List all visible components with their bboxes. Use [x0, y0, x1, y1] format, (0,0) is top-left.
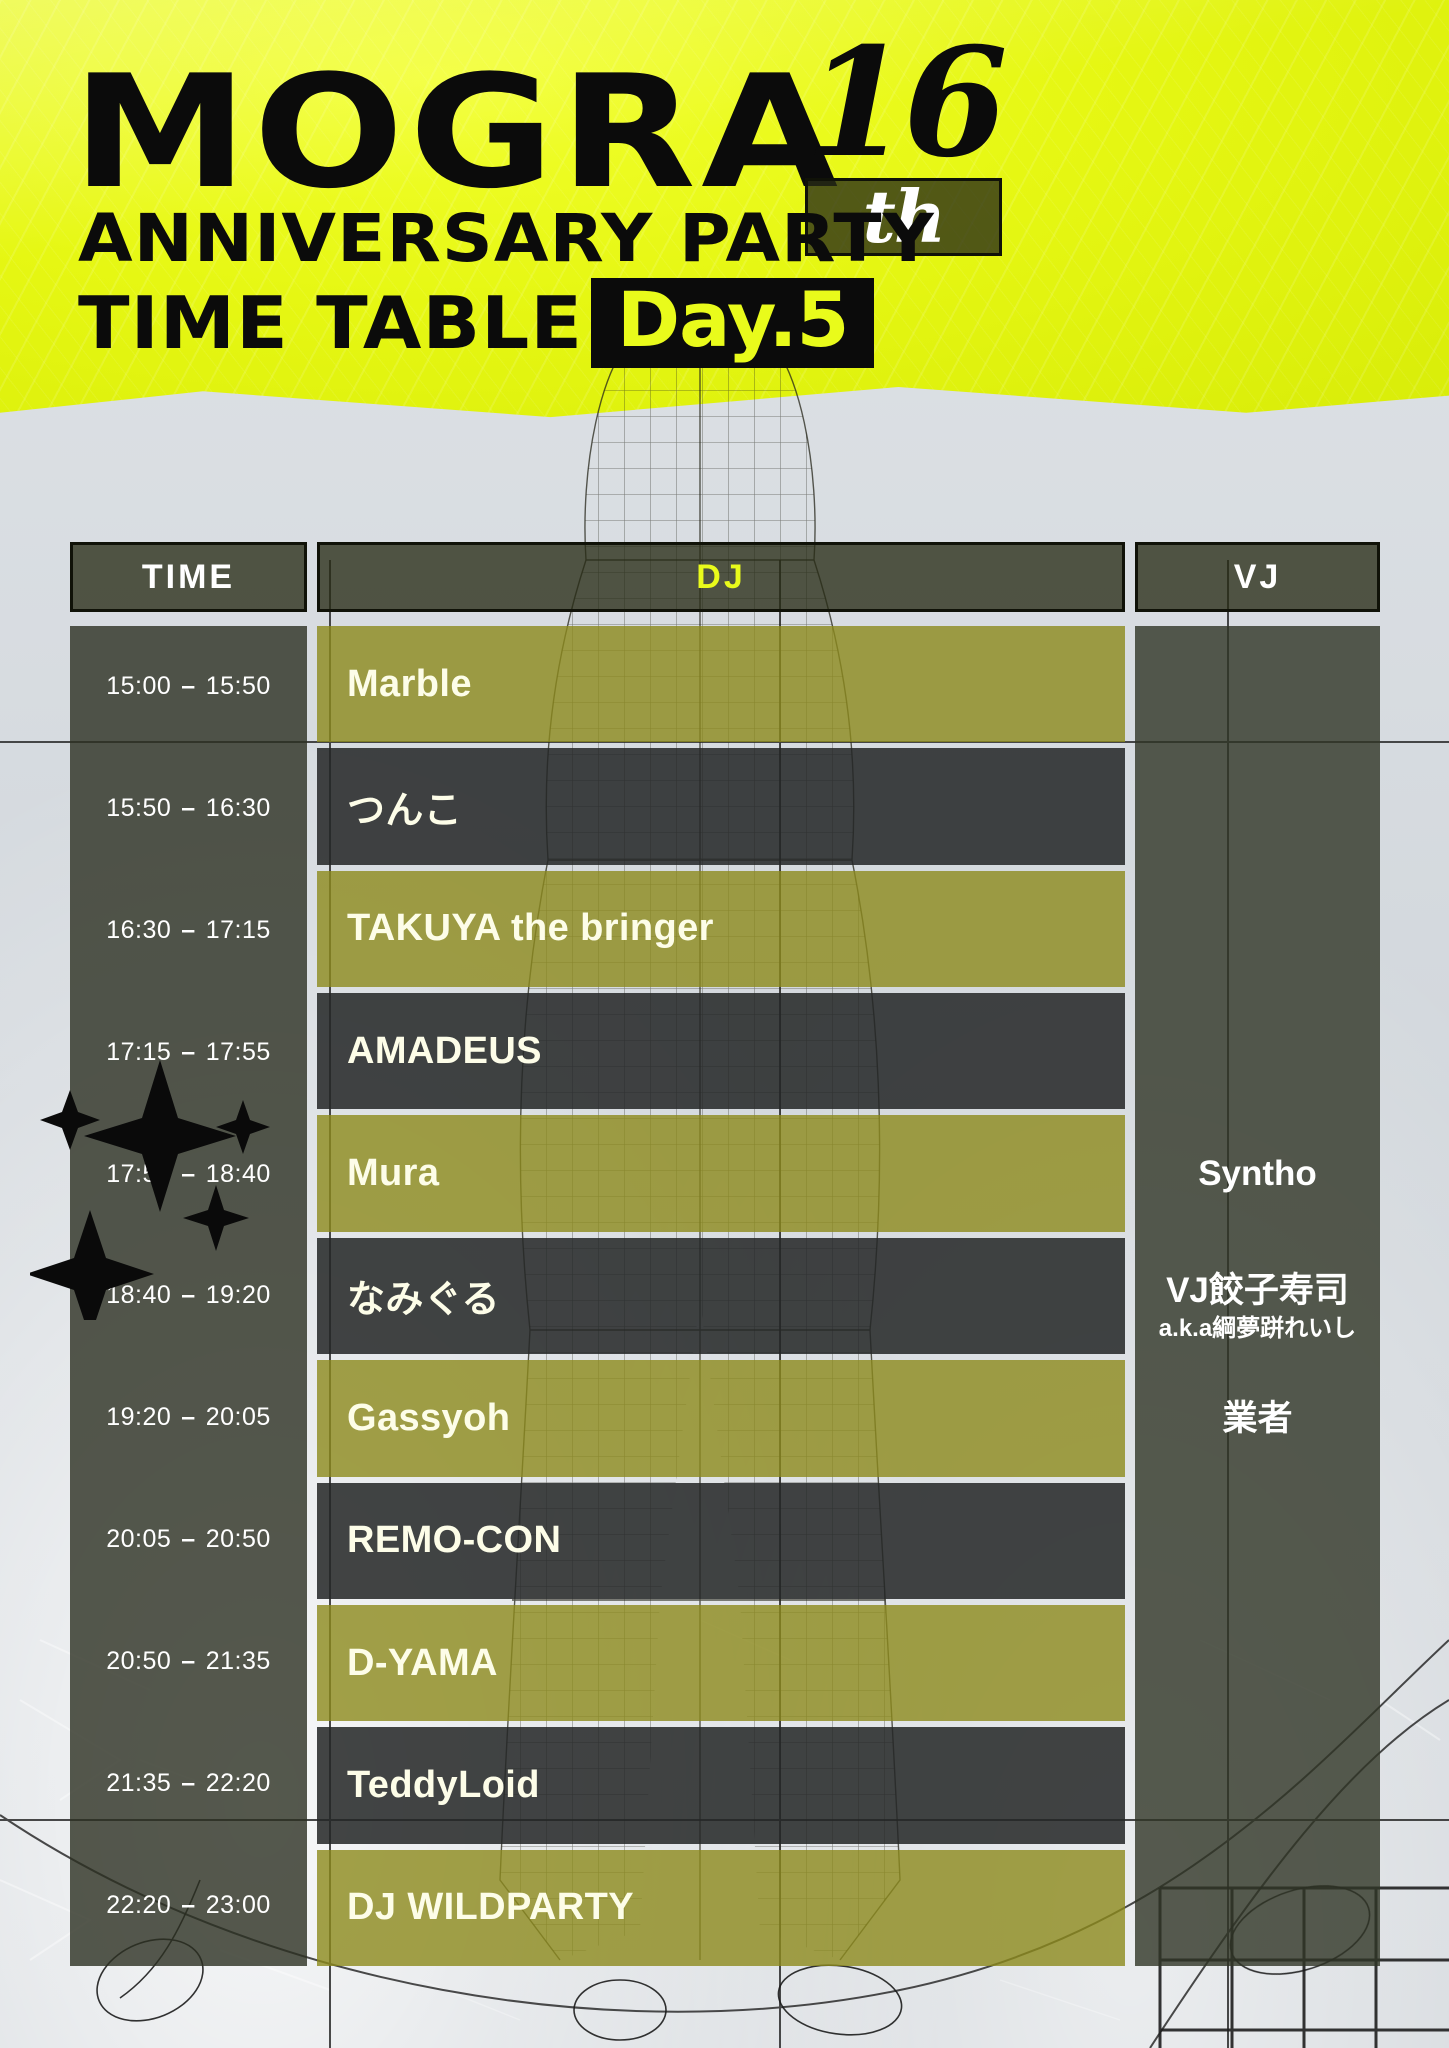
vj-entry-1-name: Syntho — [1198, 1151, 1317, 1197]
time-start: 19:20 — [106, 1403, 171, 1432]
day-badge: Day.5 — [591, 278, 874, 368]
time-dash: – — [181, 1647, 195, 1676]
time-end: 21:35 — [206, 1647, 271, 1676]
time-end: 20:50 — [206, 1525, 271, 1554]
time-end: 15:50 — [206, 672, 271, 701]
dj-cell: D-YAMA — [317, 1605, 1125, 1721]
time-cell: 21:35–22:20 — [70, 1722, 307, 1844]
day-badge-label: Day.5 — [617, 282, 848, 358]
vj-entry-2: VJ餃子寿司 a.k.a綱夢跰れいし — [1159, 1268, 1356, 1344]
time-column: 15:00–15:5015:50–16:3016:30–17:1517:15–1… — [70, 626, 307, 1966]
dj-cell: Marble — [317, 626, 1125, 742]
dj-cell: Mura — [317, 1115, 1125, 1231]
time-end: 17:55 — [206, 1038, 271, 1067]
anniversary-number: 16 — [805, 15, 1002, 191]
time-dash: – — [181, 1525, 195, 1554]
timetable-body: 15:00–15:5015:50–16:3016:30–17:1517:15–1… — [70, 626, 1380, 1966]
time-end: 22:20 — [206, 1769, 271, 1798]
column-header-vj: VJ — [1135, 542, 1380, 612]
time-cell: 22:20–23:00 — [70, 1844, 307, 1966]
dj-cell: つんこ — [317, 748, 1125, 864]
time-dash: – — [181, 794, 195, 823]
time-end: 16:30 — [206, 794, 271, 823]
time-cell: 20:50–21:35 — [70, 1601, 307, 1723]
time-dash: – — [181, 1160, 195, 1189]
time-start: 17:15 — [106, 1038, 171, 1067]
dj-cell: AMADEUS — [317, 993, 1125, 1109]
dj-cell: REMO-CON — [317, 1483, 1125, 1599]
anniversary-party-line: ANNIVERSARY PARTY — [78, 200, 935, 277]
time-cell: 18:40–19:20 — [70, 1235, 307, 1357]
timetable-header-row: TIME DJ VJ — [70, 542, 1380, 612]
time-start: 18:40 — [106, 1281, 171, 1310]
timetable: TIME DJ VJ 15:00–15:5015:50–16:3016:30–1… — [70, 542, 1380, 1966]
time-cell: 16:30–17:15 — [70, 870, 307, 992]
time-dash: – — [181, 1038, 195, 1067]
dj-cell: DJ WILDPARTY — [317, 1850, 1125, 1966]
vj-entry-2-alias: a.k.a綱夢跰れいし — [1159, 1314, 1356, 1344]
time-cell: 19:20–20:05 — [70, 1357, 307, 1479]
time-end: 18:40 — [206, 1160, 271, 1189]
vj-entry-3-name: 業者 — [1222, 1396, 1292, 1442]
column-header-dj: DJ — [317, 542, 1125, 612]
timetable-poster: MOGRA 16th ANNIVERSARY PARTY TIME TABLE … — [0, 0, 1449, 2048]
vj-entry-3: 業者 — [1222, 1396, 1292, 1442]
time-end: 23:00 — [206, 1891, 271, 1920]
timetable-title-row: TIME TABLE Day.5 — [78, 278, 874, 368]
time-cell: 15:50–16:30 — [70, 748, 307, 870]
column-header-time: TIME — [70, 542, 307, 612]
time-dash: – — [181, 1769, 195, 1798]
dj-cell: Gassyoh — [317, 1360, 1125, 1476]
time-end: 17:15 — [206, 916, 271, 945]
vj-entry-2-name: VJ餃子寿司 — [1159, 1268, 1356, 1314]
poster-header: MOGRA 16th ANNIVERSARY PARTY TIME TABLE … — [0, 0, 1449, 400]
brand-logo: MOGRA — [72, 42, 832, 192]
time-end: 19:20 — [206, 1281, 271, 1310]
time-start: 21:35 — [106, 1769, 171, 1798]
time-cell: 15:00–15:50 — [70, 626, 307, 748]
time-dash: – — [181, 1281, 195, 1310]
time-start: 16:30 — [106, 916, 171, 945]
time-start: 17:55 — [106, 1160, 171, 1189]
vj-column: Syntho VJ餃子寿司 a.k.a綱夢跰れいし 業者 — [1135, 626, 1380, 1966]
vj-entry-1: Syntho — [1198, 1151, 1317, 1197]
dj-column: MarbleつんこTAKUYA the bringerAMADEUSMuraなみ… — [317, 626, 1125, 1966]
time-start: 20:50 — [106, 1647, 171, 1676]
timetable-title: TIME TABLE — [78, 281, 583, 365]
dj-cell: TAKUYA the bringer — [317, 871, 1125, 987]
time-start: 20:05 — [106, 1525, 171, 1554]
time-start: 15:50 — [106, 794, 171, 823]
time-cell: 17:55–18:40 — [70, 1113, 307, 1235]
time-end: 20:05 — [206, 1403, 271, 1432]
time-dash: – — [181, 1403, 195, 1432]
brand-logo-text: MOGRA — [72, 42, 843, 224]
dj-cell: TeddyLoid — [317, 1727, 1125, 1843]
time-start: 15:00 — [106, 672, 171, 701]
time-cell: 17:15–17:55 — [70, 991, 307, 1113]
dj-cell: なみぐる — [317, 1238, 1125, 1354]
time-cell: 20:05–20:50 — [70, 1479, 307, 1601]
time-start: 22:20 — [106, 1891, 171, 1920]
time-dash: – — [181, 916, 195, 945]
time-dash: – — [181, 672, 195, 701]
time-dash: – — [181, 1891, 195, 1920]
